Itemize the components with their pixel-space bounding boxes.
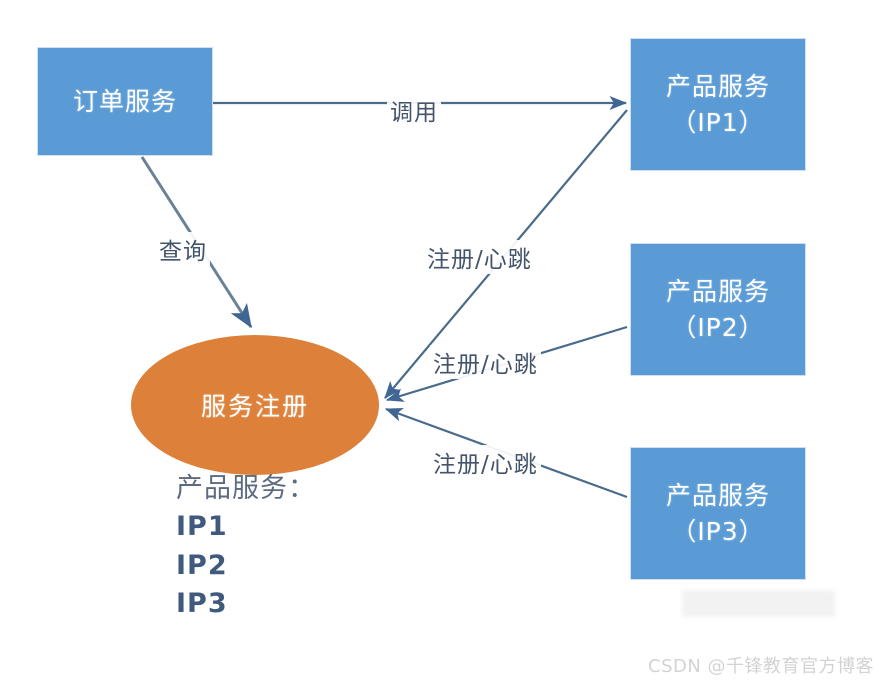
registry-service-list-item-ip3: IP3 — [176, 585, 316, 623]
edge-label-register-ip1: 注册/心跳 — [424, 240, 535, 274]
node-service-registry-label: 服务注册 — [201, 387, 309, 423]
edge-label-register-ip3: 注册/心跳 — [430, 445, 541, 479]
node-product-service-ip3[interactable]: 产品服务 （IP3） — [630, 447, 806, 580]
node-product-service-ip1-address: （IP1） — [671, 106, 764, 140]
edge-label-call: 调用 — [387, 93, 441, 127]
node-product-service-ip1[interactable]: 产品服务 （IP1） — [630, 38, 806, 171]
watermark-text: CSDN @千锋教育官方博客 — [648, 652, 874, 678]
node-product-service-ip2-address: （IP2） — [671, 311, 764, 345]
edge-label-register-ip2: 注册/心跳 — [430, 345, 541, 379]
node-product-service-ip3-title: 产品服务 — [666, 479, 770, 513]
node-product-service-ip1-title: 产品服务 — [666, 70, 770, 104]
registry-service-list: 产品服务： IP1 IP2 IP3 — [176, 470, 316, 623]
edge-label-query: 查询 — [156, 232, 210, 266]
redacted-region — [682, 590, 835, 617]
node-product-service-ip2-title: 产品服务 — [666, 275, 770, 309]
diagram-canvas: 订单服务 产品服务 （IP1） 产品服务 （IP2） 产品服务 （IP3） 服务… — [0, 0, 894, 687]
registry-service-list-item-ip2: IP2 — [176, 547, 316, 585]
node-product-service-ip3-address: （IP3） — [671, 515, 764, 549]
node-service-registry[interactable]: 服务注册 — [131, 335, 379, 475]
registry-service-list-title: 产品服务： — [176, 470, 316, 508]
node-order-service-label: 订单服务 — [73, 85, 177, 119]
registry-service-list-item-ip1: IP1 — [176, 508, 316, 546]
node-order-service[interactable]: 订单服务 — [37, 47, 213, 156]
node-product-service-ip2[interactable]: 产品服务 （IP2） — [630, 243, 806, 376]
